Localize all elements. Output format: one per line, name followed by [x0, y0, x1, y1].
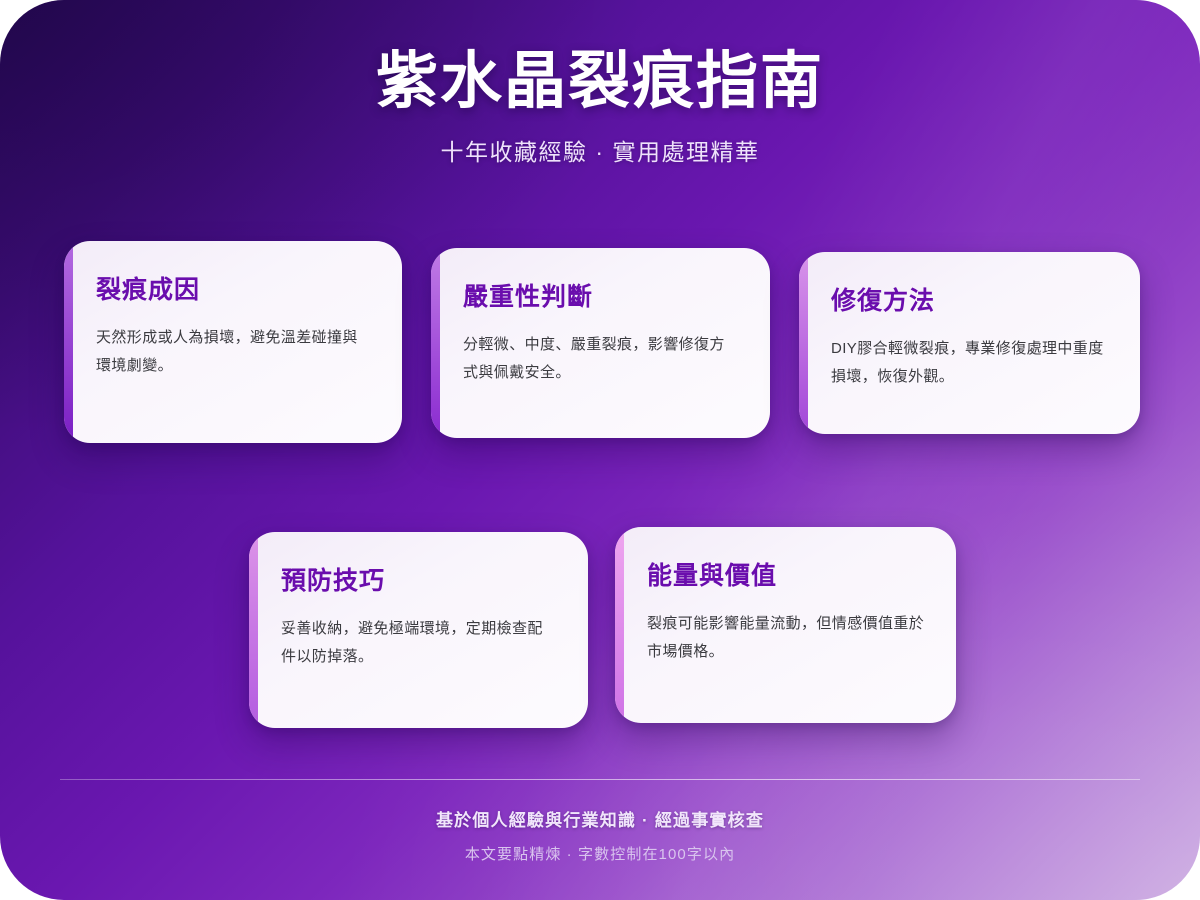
poster-footer: 基於個人經驗與行業知識 · 經過事實核查 本文要點精煉 · 字數控制在100字以… [0, 779, 1200, 866]
card-body: 天然形成或人為損壞，避免溫差碰撞與環境劇變。 [96, 324, 372, 380]
footer-credibility-note: 基於個人經驗與行業知識 · 經過事實核查 [0, 808, 1200, 834]
card-body: DIY膠合輕微裂痕，專業修復處理中重度損壞，恢復外觀。 [831, 335, 1110, 391]
footer-length-note: 本文要點精煉 · 字數控制在100字以內 [0, 844, 1200, 867]
card-body: 妥善收納，避免極端環境，定期檢查配件以防掉落。 [281, 615, 558, 671]
card-accent-bar [799, 252, 808, 434]
card-title: 能量與價值 [647, 561, 926, 592]
footer-divider [60, 779, 1140, 780]
page-title: 紫水晶裂痕指南 [0, 48, 1200, 116]
page-subtitle: 十年收藏經驗 · 實用處理精華 [0, 138, 1200, 168]
card-accent-bar [249, 532, 258, 728]
info-card-cause: 裂痕成因 天然形成或人為損壞，避免溫差碰撞與環境劇變。 [64, 241, 402, 443]
info-card-repair: 修復方法 DIY膠合輕微裂痕，專業修復處理中重度損壞，恢復外觀。 [799, 252, 1140, 434]
card-body: 裂痕可能影響能量流動，但情感價值重於市場價格。 [647, 610, 926, 666]
info-card-severity: 嚴重性判斷 分輕微、中度、嚴重裂痕，影響修復方式與佩戴安全。 [431, 248, 770, 438]
poster-header: 紫水晶裂痕指南 十年收藏經驗 · 實用處理精華 [0, 0, 1200, 168]
card-title: 裂痕成因 [96, 275, 372, 306]
card-accent-bar [431, 248, 440, 438]
info-card-prevention: 預防技巧 妥善收納，避免極端環境，定期檢查配件以防掉落。 [249, 532, 588, 728]
card-title: 修復方法 [831, 286, 1110, 317]
card-accent-bar [615, 527, 624, 723]
card-title: 嚴重性判斷 [463, 282, 740, 313]
card-accent-bar [64, 241, 73, 443]
card-body: 分輕微、中度、嚴重裂痕，影響修復方式與佩戴安全。 [463, 331, 740, 387]
info-card-energy-value: 能量與價值 裂痕可能影響能量流動，但情感價值重於市場價格。 [615, 527, 956, 723]
infographic-poster: 紫水晶裂痕指南 十年收藏經驗 · 實用處理精華 裂痕成因 天然形成或人為損壞，避… [0, 0, 1200, 900]
card-title: 預防技巧 [281, 566, 558, 597]
